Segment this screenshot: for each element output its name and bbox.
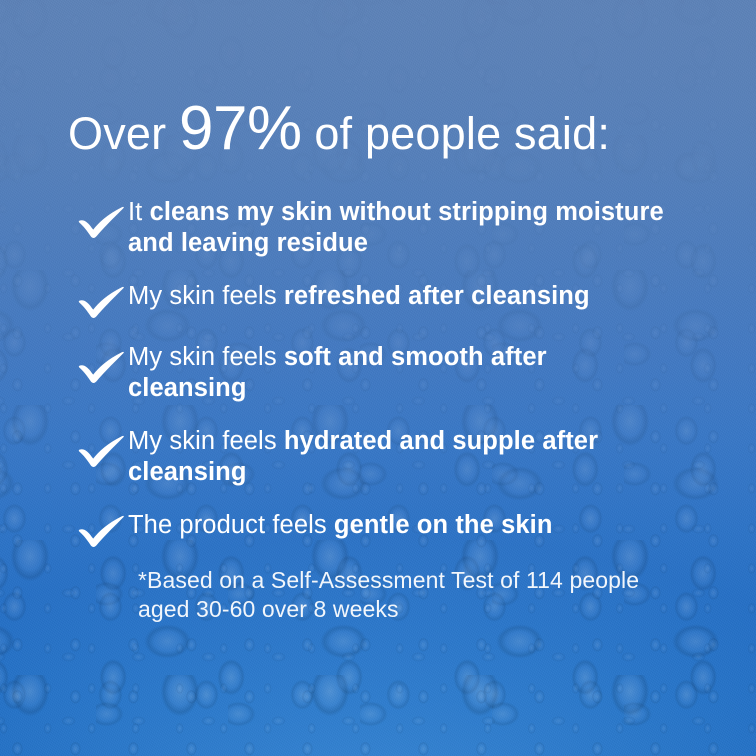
list-item-text-regular: The product feels (128, 511, 334, 539)
list-item-text-regular: It (128, 198, 150, 226)
list-item: My skin feels soft and smooth after clea… (76, 341, 696, 404)
list-item-text-regular: My skin feels (128, 427, 284, 455)
list-item-text: My skin feels refreshed after cleansing (128, 280, 590, 312)
list-item-text: My skin feels hydrated and supple after … (128, 425, 668, 488)
list-item: My skin feels hydrated and supple after … (76, 425, 696, 488)
check-icon (76, 345, 128, 385)
check-icon (76, 429, 128, 469)
headline-stat: 97% (179, 94, 302, 163)
headline-prefix: Over (68, 108, 179, 159)
headline-suffix: of people said: (302, 108, 610, 159)
headline: Over 97% of people said: (68, 98, 610, 160)
list-item-text: The product feels gentle on the skin (128, 509, 553, 541)
list-item-text-bold: refreshed after cleansing (284, 282, 590, 310)
footnote: *Based on a Self-Assessment Test of 114 … (138, 566, 658, 624)
list-item: The product feels gentle on the skin (76, 509, 696, 549)
poster-content: Over 97% of people said: It cleans my sk… (0, 0, 756, 756)
list-item-text: It cleans my skin without stripping mois… (128, 196, 668, 259)
list-item: My skin feels refreshed after cleansing (76, 280, 696, 320)
list-item-text-bold: gentle on the skin (334, 511, 553, 539)
check-icon (76, 280, 128, 320)
check-icon (76, 200, 128, 240)
list-item: It cleans my skin without stripping mois… (76, 196, 696, 259)
promo-poster: Over 97% of people said: It cleans my sk… (0, 0, 756, 756)
list-item-text-regular: My skin feels (128, 282, 284, 310)
list-item-text-bold: cleans my skin without stripping moistur… (128, 198, 664, 257)
list-item-text: My skin feels soft and smooth after clea… (128, 341, 668, 404)
claims-list: It cleans my skin without stripping mois… (76, 196, 696, 570)
check-icon (76, 509, 128, 549)
list-item-text-regular: My skin feels (128, 343, 284, 371)
